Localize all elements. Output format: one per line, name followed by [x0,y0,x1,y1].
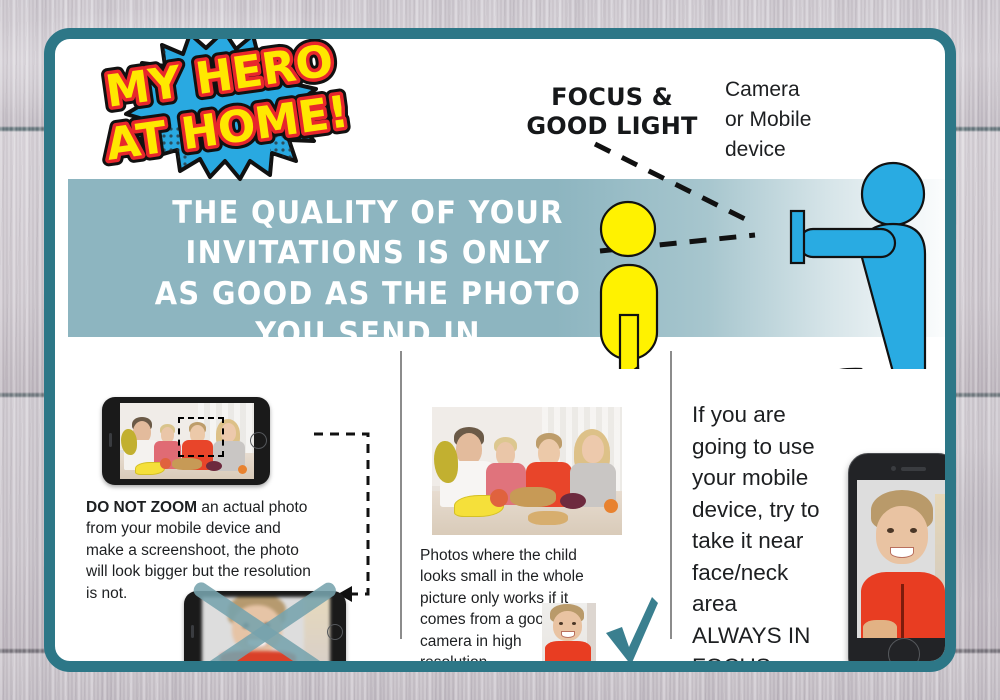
screen-boy-hands [863,620,897,638]
photo-plums [206,461,222,471]
headline-line-2: INVITATIONS IS ONLY [117,233,619,273]
phone-front-camera-icon [891,466,896,471]
photo-rolls [528,511,568,525]
logo-line-2-group: AT HOME! AT HOME! AT HOME! [103,86,352,170]
zoom-selection-rectangle[interactable] [178,417,224,457]
photo-bread [172,458,202,470]
mobile-closeup-caption: If you are going to use your mobile devi… [692,399,852,672]
screen-boy-zipper [901,584,904,638]
photo-pumpkin [238,465,247,474]
family-wide-photo [432,407,622,535]
photo-autumn-leaves [121,429,137,455]
thumb-boy-jacket [545,641,591,665]
photo-plums [560,493,586,509]
phone-speaker [191,625,194,638]
thumb-boy-mouth [562,632,574,637]
photo-autumn-leaves [434,441,458,483]
camera-label-line-1: Camera [725,75,885,105]
screen-boy-eye-right [910,528,917,533]
phone-home-button[interactable] [250,432,267,449]
column-divider-1 [400,351,402,639]
logo-line-1-fill: MY HERO [102,35,336,117]
caption-line-9: FOCUS [692,651,852,672]
connector-path [314,434,368,594]
checkmark-shape [606,597,658,665]
camera-label-line-2: or Mobile [725,105,885,135]
caption-line-1: If you are [692,399,852,431]
phone-landscape-zoomed-photo[interactable] [184,591,346,672]
photo-bread [510,487,556,507]
headline-text: THE QUALITY OF YOUR INVITATIONS IS ONLY … [117,193,619,354]
infographic-card: THE QUALITY OF YOUR INVITATIONS IS ONLY … [44,28,956,672]
bottom-columns: DO NOT ZOOM an actual photo from your mo… [68,339,956,661]
caption-line-6: face/neck [692,557,852,589]
caption-line-5: take it near [692,525,852,557]
logo-line-1-outline: MY HERO [102,35,336,117]
phone-home-button[interactable] [888,638,920,670]
caption-line-3: your mobile [692,462,852,494]
phone-landscape-original-photo[interactable] [102,397,270,485]
logo-line-2-fill: AT HOME! [103,86,352,170]
phone-portrait-closeup[interactable] [848,453,956,672]
my-hero-at-home-logo: MY HERO MY HERO MY HERO AT HOME! AT HOME… [120,29,330,179]
photo-mom-head [582,435,604,463]
approved-checkmark [602,597,658,667]
phone-speaker [109,433,112,447]
focus-label-line-1: FOCUS & [507,83,717,112]
logo-line-2-shadow: AT HOME! [103,86,352,170]
boy-thumbnail-photo [542,603,596,665]
screen-boy-mouth [891,548,913,557]
logo-line-1-shadow: MY HERO [102,35,336,117]
x-cross-out-mark [184,591,346,672]
caption-line-7: area [692,588,852,620]
logo-starburst [126,31,322,179]
headline-banner: THE QUALITY OF YOUR INVITATIONS IS ONLY … [68,179,956,337]
screen-boy-eye-left [887,528,894,533]
caption-line-2: going to use [692,431,852,463]
headline-line-1: THE QUALITY OF YOUR [117,193,619,233]
logo-halftone-dots [126,31,326,179]
phone-home-button[interactable] [327,624,343,640]
photo-pumpkin [604,499,618,513]
column-divider-2 [670,351,672,639]
focus-label-line-2: GOOD LIGHT [507,112,717,141]
photo-apple [490,489,508,507]
focus-and-light-label: FOCUS & GOOD LIGHT [507,83,717,141]
phone-screen-family-photo [120,403,254,479]
logo-line-2-outline: AT HOME! [103,86,352,170]
caption-line-4: device, try to [692,494,852,526]
thumb-boy-eye-right [572,622,576,625]
thumb-boy-eye-left [559,622,563,625]
photo-apple [160,458,171,469]
camera-label-line-3: device [725,135,885,165]
logo-line-1-group: MY HERO MY HERO MY HERO [102,35,336,117]
headline-line-3: AS GOOD AS THE PHOTO [117,274,619,314]
phone-earpiece [901,467,926,471]
do-not-zoom-emphasis: DO NOT ZOOM [86,499,197,516]
camera-device-label: Camera or Mobile device [725,75,885,164]
phone-screen-boy-closeup [857,480,949,638]
caption-line-8: ALWAYS IN [692,620,852,652]
